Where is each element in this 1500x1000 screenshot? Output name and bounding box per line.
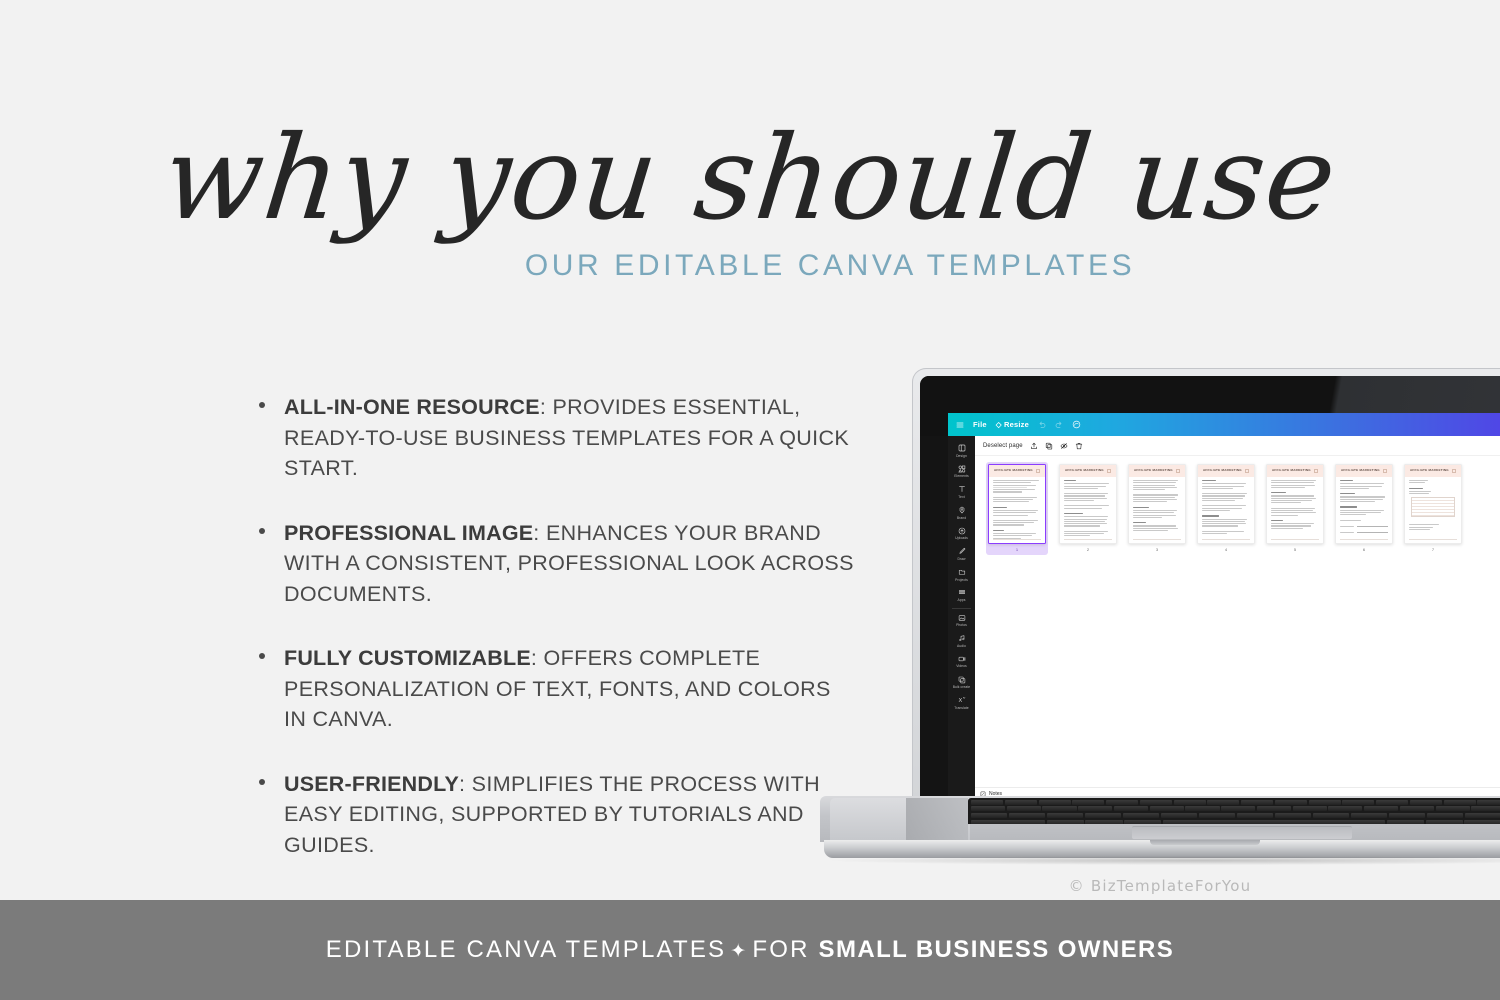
sidebar-item-text[interactable]: Text <box>948 481 975 502</box>
page-header-band: AFFILIATE MARKETING <box>1060 465 1116 477</box>
page-footer-rule <box>1133 539 1181 540</box>
laptop-mockup: File ◇ Resize Affi <box>820 368 1500 868</box>
page-doc-title: AFFILIATE MARKETING <box>1272 468 1311 472</box>
laptop-keyboard <box>968 798 1500 824</box>
page-footer-rule <box>1271 539 1319 540</box>
canva-canvas-area: Deselect page <box>975 436 1500 800</box>
invoice-table <box>1411 497 1455 517</box>
page-subtitle: OUR EDITABLE CANVA TEMPLATES <box>0 249 1500 283</box>
bullet-dot-icon <box>259 528 265 534</box>
page-preview: AFFILIATE MARKETING <box>1059 464 1117 544</box>
page-body-lower <box>1405 521 1461 530</box>
sidebar-item-label: Apps <box>958 598 966 602</box>
bullet-dot-icon <box>259 402 265 408</box>
sidebar-item-projects[interactable]: Projects <box>948 564 975 585</box>
diamond-icon: ✦ <box>726 941 752 962</box>
sidebar-item-label: Projects <box>955 578 968 582</box>
page-doc-title: AFFILIATE MARKETING <box>1134 468 1173 472</box>
sidebar-item-label: Text <box>958 495 964 499</box>
page-thumbnail-3[interactable]: AFFILIATE MARKETING <box>1128 464 1186 555</box>
sidebar-item-videos[interactable]: Videos <box>948 651 975 672</box>
cloud-saved-icon[interactable] <box>1072 420 1081 429</box>
bullet-dot-icon <box>259 779 265 785</box>
page-footer-rule <box>1409 539 1457 540</box>
page-header-band: AFFILIATE MARKETING <box>1267 465 1323 477</box>
page-logo-mark <box>1245 469 1249 473</box>
canva-body: Design Elements Text <box>948 436 1500 800</box>
footer-text: EDITABLE CANVA TEMPLATES✦FOR SMALL BUSIN… <box>326 936 1174 964</box>
resize-button[interactable]: ◇ Resize <box>996 420 1029 429</box>
page-logo-mark <box>1314 469 1318 473</box>
laptop-palmrest-shadow <box>906 798 968 840</box>
page-logo-mark <box>1176 469 1180 473</box>
page-doc-title: AFFILIATE MARKETING <box>1410 468 1449 472</box>
page-number: 1 <box>988 544 1046 553</box>
page-logo-mark <box>1107 469 1111 473</box>
footer-strong: SMALL BUSINESS OWNERS <box>819 936 1175 963</box>
page-footer-rule <box>1064 539 1112 540</box>
export-page-icon[interactable] <box>1030 442 1038 450</box>
page-logo-mark <box>1383 469 1387 473</box>
sidebar-item-label: Draw <box>957 557 965 561</box>
list-item: USER-FRIENDLY: SIMPLIFIES THE PROCESS WI… <box>256 769 856 861</box>
brand-icon <box>958 506 966 515</box>
page-body <box>989 477 1045 539</box>
sidebar-item-uploads[interactable]: Uploads <box>948 523 975 544</box>
page-doc-title: AFFILIATE MARKETING <box>1341 468 1380 472</box>
sidebar-item-apps[interactable]: Apps <box>948 585 975 606</box>
projects-icon <box>958 568 966 577</box>
page-number: 3 <box>1128 544 1186 553</box>
page-thumbnail-strip: AFFILIATE MARKETING <box>975 456 1500 555</box>
page-thumbnail-6[interactable]: AFFILIATE MARKETING <box>1335 464 1393 555</box>
page-footer-rule <box>1340 539 1388 540</box>
laptop-deck <box>820 796 1500 842</box>
sidebar-item-label: Audio <box>957 644 966 648</box>
file-menu-button[interactable]: File <box>973 420 987 429</box>
page-thumbnail-2[interactable]: AFFILIATE MARKETING <box>1059 464 1117 555</box>
page-footer-rule <box>993 539 1041 540</box>
photos-icon <box>958 613 966 622</box>
sidebar-item-label: Videos <box>956 664 967 668</box>
page-preview: AFFILIATE MARKETING <box>1197 464 1255 544</box>
page-body <box>1198 477 1254 534</box>
list-item-term: FULLY CUSTOMIZABLE <box>284 646 531 670</box>
sidebar-item-label: Elements <box>954 474 969 478</box>
footer-bar: EDITABLE CANVA TEMPLATES✦FOR SMALL BUSIN… <box>0 900 1500 1000</box>
laptop-trackpad <box>1132 826 1352 839</box>
page-doc-title: AFFILIATE MARKETING <box>1203 468 1242 472</box>
canva-topbar: File ◇ Resize Affi <box>948 413 1500 436</box>
page-header-band: AFFILIATE MARKETING <box>989 465 1045 477</box>
laptop-lid: File ◇ Resize Affi <box>912 368 1500 800</box>
sidebar-item-label: Brand <box>957 516 966 520</box>
page-preview: AFFILIATE MARKETING <box>1266 464 1324 544</box>
duplicate-page-icon[interactable] <box>1045 442 1053 450</box>
sidebar-item-brand[interactable]: Brand <box>948 502 975 523</box>
page-header-band: AFFILIATE MARKETING <box>1129 465 1185 477</box>
page-thumbnail-7[interactable]: AFFILIATE MARKETING <box>1404 464 1462 555</box>
page-title: why you should use <box>0 118 1500 240</box>
copyright-text: © BizTemplateForYou <box>820 877 1500 895</box>
uploads-icon <box>958 526 966 535</box>
bulk-create-icon <box>958 675 966 684</box>
sidebar-item-bulk-create[interactable]: Bulk create <box>948 672 975 693</box>
sidebar-item-photos[interactable]: Photos <box>948 610 975 631</box>
benefits-list: ALL-IN-ONE RESOURCE: PROVIDES ESSENTIAL,… <box>256 392 856 986</box>
page-number: 5 <box>1266 544 1324 553</box>
page-body <box>1060 477 1116 536</box>
page-header-band: AFFILIATE MARKETING <box>1405 465 1461 477</box>
sidebar-divider <box>952 608 971 609</box>
sidebar-item-draw[interactable]: Draw <box>948 543 975 564</box>
page-doc-title: AFFILIATE MARKETING <box>1065 468 1104 472</box>
apps-icon <box>958 588 966 597</box>
draw-icon <box>958 547 966 556</box>
laptop-screen: File ◇ Resize Affi <box>920 376 1500 800</box>
page-number: 2 <box>1059 544 1117 553</box>
translate-icon: X <box>958 696 966 705</box>
sidebar-item-label: Uploads <box>955 536 968 540</box>
design-icon <box>958 444 966 453</box>
sidebar-item-label: Translate <box>954 706 968 710</box>
delete-page-icon[interactable] <box>1075 442 1083 450</box>
hide-page-icon[interactable] <box>1060 442 1068 450</box>
page-preview: AFFILIATE MARKETING <box>1128 464 1186 544</box>
bullet-dot-icon <box>259 653 265 659</box>
list-item: PROFESSIONAL IMAGE: ENHANCES YOUR BRAND … <box>256 518 856 610</box>
videos-icon <box>958 654 966 663</box>
page-body <box>1129 477 1185 531</box>
poster-canvas: why you should use OUR EDITABLE CANVA TE… <box>0 0 1500 1000</box>
page-body <box>1267 477 1323 529</box>
list-item: FULLY CUSTOMIZABLE: OFFERS COMPLETE PERS… <box>256 643 856 735</box>
redo-icon[interactable] <box>1055 421 1063 429</box>
sidebar-item-label: Design <box>956 454 967 458</box>
page-footer-rule <box>1202 539 1250 540</box>
page-thumbnail-5[interactable]: AFFILIATE MARKETING <box>1266 464 1324 555</box>
text-icon <box>958 485 966 494</box>
page-body <box>1405 477 1461 494</box>
list-item-term: USER-FRIENDLY <box>284 772 459 796</box>
sidebar-item-audio[interactable]: Audio <box>948 630 975 651</box>
laptop-base <box>820 796 1500 868</box>
page-header-band: AFFILIATE MARKETING <box>1336 465 1392 477</box>
sidebar-item-design[interactable]: Design <box>948 440 975 461</box>
list-item: ALL-IN-ONE RESOURCE: PROVIDES ESSENTIAL,… <box>256 392 856 484</box>
sidebar-item-translate[interactable]: X Translate <box>948 692 975 713</box>
page-preview: AFFILIATE MARKETING <box>988 464 1046 544</box>
page-thumbnail-4[interactable]: AFFILIATE MARKETING <box>1197 464 1255 555</box>
list-item-term: ALL-IN-ONE RESOURCE <box>284 395 540 419</box>
page-doc-title: AFFILIATE MARKETING <box>994 468 1033 472</box>
page-body <box>1336 477 1392 521</box>
canva-app: File ◇ Resize Affi <box>948 413 1500 800</box>
page-logo-mark <box>1452 469 1456 473</box>
list-item-term: PROFESSIONAL IMAGE <box>284 521 533 545</box>
svg-text:X: X <box>958 698 962 704</box>
hamburger-icon[interactable] <box>956 421 964 429</box>
sidebar-item-label: Bulk create <box>953 685 971 689</box>
footer-mid: FOR <box>752 936 809 963</box>
footer-lead: EDITABLE CANVA TEMPLATES <box>326 936 726 963</box>
page-preview: AFFILIATE MARKETING <box>1404 464 1462 544</box>
laptop-drop-shadow <box>832 856 1500 865</box>
deselect-page-button[interactable]: Deselect page <box>983 443 1023 449</box>
laptop-front-notch <box>1150 840 1260 845</box>
page-preview: AFFILIATE MARKETING <box>1335 464 1393 544</box>
signature-field-1 <box>1336 526 1392 527</box>
undo-icon[interactable] <box>1038 421 1046 429</box>
page-header-band: AFFILIATE MARKETING <box>1198 465 1254 477</box>
page-number: 7 <box>1404 544 1462 553</box>
elements-icon <box>958 464 966 473</box>
page-number: 4 <box>1197 544 1255 553</box>
audio-icon <box>958 634 966 643</box>
page-thumbnail-1[interactable]: AFFILIATE MARKETING <box>986 462 1048 555</box>
signature-field-2 <box>1336 532 1392 533</box>
canva-sidebar: Design Elements Text <box>948 436 975 800</box>
sidebar-item-label: Photos <box>956 623 967 627</box>
page-toolbar: Deselect page <box>975 436 1500 456</box>
sidebar-item-elements[interactable]: Elements <box>948 461 975 482</box>
page-logo-mark <box>1036 469 1040 473</box>
page-number: 6 <box>1335 544 1393 553</box>
